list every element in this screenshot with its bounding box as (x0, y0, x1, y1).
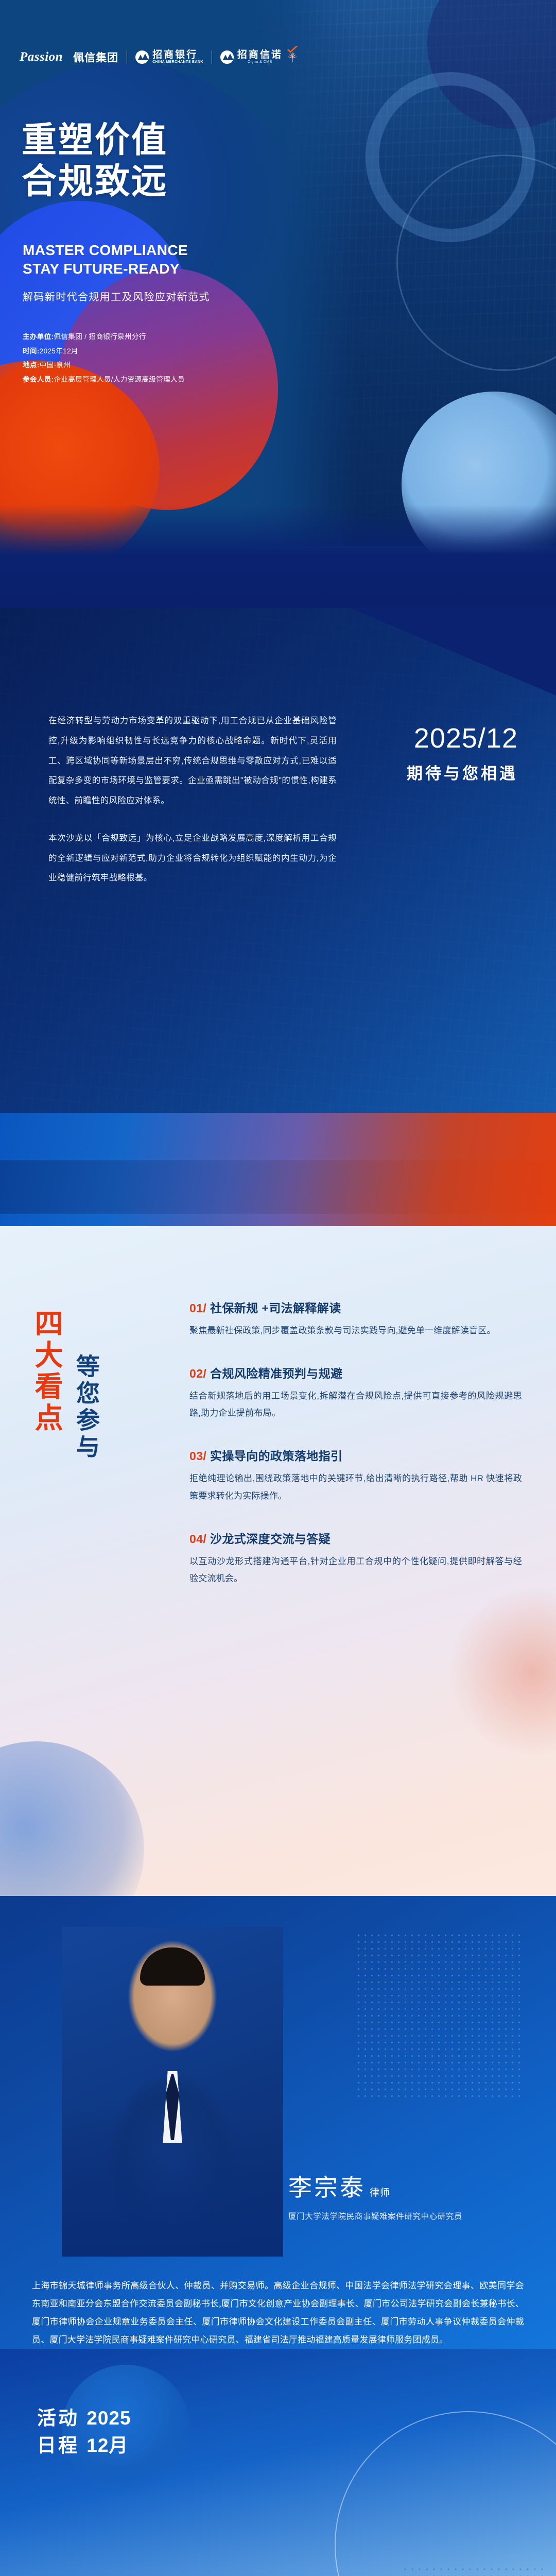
highlight-title: 合规风险精准预判与规避 (210, 1367, 342, 1380)
passion-cn-label: 佩信集团 (73, 49, 118, 65)
speaker-dot-pattern (355, 1932, 525, 2102)
hero-title-line-1: 重塑价值 (22, 120, 168, 161)
highlights-blob-blue (0, 1741, 144, 1917)
highlight-description: 结合新规落地后的用工场景变化,拆解潜在合规风险点,提供可直接参考的风险规避思路,… (189, 1387, 522, 1421)
highlight-description: 拒绝纯理论输出,围绕政策落地中的关键环节,给出清晰的执行路径,帮助 HR 快速将… (189, 1470, 522, 1504)
event-meta-list: 主办单位:佩信集团 / 招商银行泉州分行 时间:2025年12月 地点:中国·泉… (23, 330, 185, 387)
highlights-list: 01/ 社保新规 +司法解释解读 聚焦最新社保政策,同步覆盖政策条款与司法实践导… (189, 1298, 522, 1612)
agenda-title: 活动 2025 日程 12月 (37, 2405, 131, 2459)
highlight-number: 04/ (189, 1532, 206, 1546)
highlight-description: 聚焦最新社保政策,同步覆盖政策条款与司法实践导向,避免单一维度解读盲区。 (189, 1322, 522, 1339)
highlight-item: 04/ 沙龙式深度交流与答疑 以互动沙龙形式搭建沟通平台,针对企业用工合规中的个… (189, 1529, 522, 1587)
cigna-mountain-icon (220, 50, 234, 64)
hero-chinese-subtitle: 解码新时代合规用工及风险应对新范式 (23, 289, 210, 303)
cmb-en-label: CHINA MERCHANTS BANK (152, 60, 203, 64)
cmb-mountain-icon (135, 50, 149, 64)
speaker-bio: 上海市锦天城律师事务所高级合伙人、仲裁员、并购交易师。高级企业合规师、中国法学会… (32, 2277, 524, 2349)
agenda-title-word-2: 日程 (37, 2435, 79, 2456)
logo-china-merchants-bank: 招商银行 CHINA MERCHANTS BANK (135, 50, 203, 64)
logo-divider-2 (212, 50, 212, 64)
meta-value-organizer: 佩信集团 / 招商银行泉州分行 (54, 333, 146, 341)
hero-title-line-2: 合规致远 (22, 161, 168, 202)
agenda-title-year: 2025 (86, 2408, 131, 2429)
check-mark-icon (287, 46, 298, 53)
intro-paragraph-1: 在经济转型与劳动力市场变革的双重驱动下,用工合规已从企业基础风险管控,升级为影响… (48, 711, 337, 811)
highlight-number: 03/ (189, 1449, 206, 1463)
agenda-dot-pattern (402, 2566, 546, 2576)
meta-value-location: 中国·泉州 (40, 361, 71, 369)
meta-label-location: 地点: (23, 361, 40, 369)
highlight-title: 实操导向的政策落地指引 (210, 1449, 342, 1463)
highlight-heading: 02/ 合规风险精准预判与规避 (189, 1364, 522, 1381)
highlight-number: 02/ (189, 1367, 206, 1380)
meta-row-attendees: 参会人员:企业高层管理人员/人力资源高级管理人员 (23, 372, 185, 387)
highlight-description: 以互动沙龙形式搭建沟通平台,针对企业用工合规中的个性化疑问,提供即时解答与经验交… (189, 1553, 522, 1587)
cigna-en-label: Cigna & CMB (237, 60, 283, 64)
speaker-title: 厦门大学法学院民商事疑难案件研究中心研究员 (288, 2210, 462, 2222)
highlights-heading-blue: 等您参与 (74, 1354, 98, 1461)
meta-row-organizer: 主办单位:佩信集团 / 招商银行泉州分行 (23, 330, 185, 344)
highlight-number: 01/ (189, 1301, 206, 1315)
logo-passion-group: Passion 佩信集团 (20, 49, 118, 65)
intro-text-block: 在经济转型与劳动力市场变革的双重驱动下,用工合规已从企业基础风险管控,升级为影响… (48, 711, 337, 906)
highlight-title: 社保新规 +司法解释解读 (210, 1301, 341, 1315)
agenda-ring (335, 2411, 556, 2576)
agenda-title-word-1: 活动 (37, 2408, 79, 2429)
intro-paragraph-2: 本次沙龙以「合规致远」为核心,立足企业战略发展高度,深度解析用工合规的全新逻辑与… (48, 828, 337, 888)
meta-value-time: 2025年12月 (40, 347, 78, 355)
meta-label-attendees: 参会人员: (23, 376, 54, 383)
passion-wordmark: Passion (20, 50, 69, 64)
highlight-heading: 01/ 社保新规 +司法解释解读 (189, 1298, 522, 1316)
hero-section: Passion 佩信集团 招商银行 CHINA MERCHANTS BANK 招… (0, 0, 556, 639)
highlights-heading-red: 四大看点 (32, 1309, 61, 1461)
highlight-item: 03/ 实操导向的政策落地指引 拒绝纯理论输出,围绕政策落地中的关键环节,给出清… (189, 1446, 522, 1504)
hero-english-subtitle: MASTER COMPLIANCE STAY FUTURE-READY (23, 241, 188, 278)
agenda-title-row-2: 日程 12月 (37, 2432, 131, 2460)
intro-section: 在经济转型与劳动力市场变革的双重驱动下,用工合规已从企业基础风险管控,升级为影响… (0, 608, 556, 1267)
logo-bar: Passion 佩信集团 招商银行 CHINA MERCHANTS BANK 招… (20, 49, 299, 65)
logo-divider-1 (127, 50, 127, 64)
agenda-section: 活动 2025 日程 12月 15:00-15:20 活动签到 (0, 2349, 556, 2576)
meta-label-time: 时间: (23, 347, 40, 355)
speaker-role: 律师 (370, 2188, 390, 2198)
intro-gradient-band (0, 1160, 556, 1214)
cigna-text: 招商信诺 Cigna & CMB (237, 50, 283, 64)
meta-row-location: 地点:中国·泉州 (23, 358, 185, 372)
event-poster: Passion 佩信集团 招商银行 CHINA MERCHANTS BANK 招… (0, 0, 556, 2576)
meta-label-organizer: 主办单位: (23, 333, 54, 341)
highlight-item: 02/ 合规风险精准预判与规避 结合新规落地后的用工场景变化,拆解潜在合规风险点… (189, 1364, 522, 1421)
meta-row-time: 时间:2025年12月 (23, 344, 185, 359)
cmb-text: 招商银行 CHINA MERCHANTS BANK (152, 50, 203, 64)
speaker-section: 李宗泰律师 厦门大学法学院民商事疑难案件研究中心研究员 上海市锦天城律师事务所高… (0, 1896, 556, 2380)
hero-english-line-1: MASTER COMPLIANCE (23, 241, 188, 260)
highlight-heading: 03/ 实操导向的政策落地指引 (189, 1446, 522, 1464)
speaker-portrait (62, 1927, 283, 2257)
agenda-title-row-1: 活动 2025 (37, 2405, 131, 2432)
portrait-hair (140, 1947, 205, 1986)
speaker-name-row: 李宗泰律师 (288, 2169, 390, 2203)
highlights-section: 四大看点 等您参与 01/ 社保新规 +司法解释解读 聚焦最新社保政策,同步覆盖… (0, 1226, 556, 1917)
agenda-title-month: 12月 (86, 2435, 128, 2456)
cigna-cn-label: 招商信诺 (237, 50, 283, 60)
page-title: 重塑价值 合规致远 (22, 120, 168, 202)
highlights-blob-orange (448, 1587, 556, 1757)
speaker-name: 李宗泰 (288, 2175, 366, 2201)
event-date-tagline: 期待与您相遇 (407, 760, 518, 784)
highlight-heading: 04/ 沙龙式深度交流与答疑 (189, 1529, 522, 1547)
event-date-large: 2025/12 (414, 722, 518, 754)
highlight-item: 01/ 社保新规 +司法解释解读 聚焦最新社保政策,同步覆盖政策条款与司法实践导… (189, 1298, 522, 1339)
cmb-cn-label: 招商银行 (152, 50, 203, 60)
hero-english-line-2: STAY FUTURE-READY (23, 260, 188, 278)
meta-value-attendees: 企业高层管理人员/人力资源高级管理人员 (54, 376, 185, 383)
highlight-title: 沙龙式深度交流与答疑 (210, 1532, 331, 1546)
